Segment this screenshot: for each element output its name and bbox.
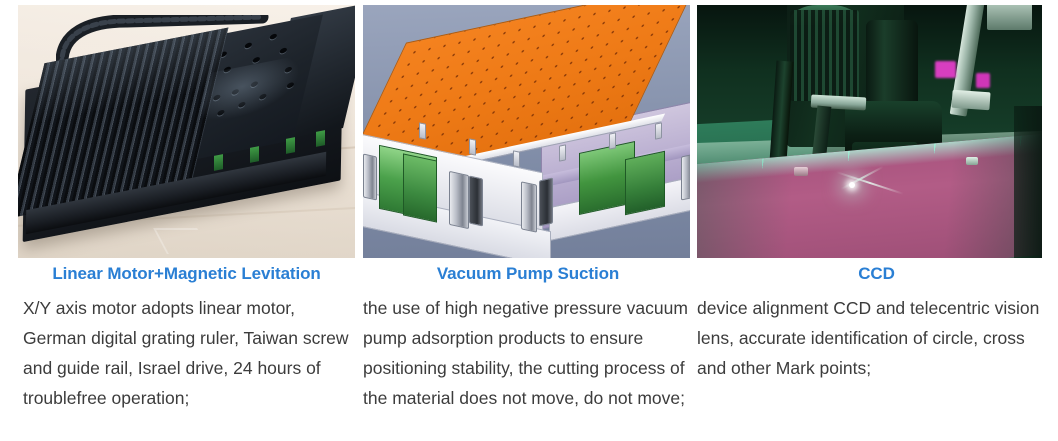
vacuum-table-cad-render bbox=[363, 5, 690, 258]
feature-title: Vacuum Pump Suction bbox=[355, 263, 695, 285]
pneumatic-cylinder bbox=[469, 176, 483, 227]
feature-card-vacuum-pump[interactable]: Vacuum Pump Suction the use of high nega… bbox=[355, 0, 695, 441]
pneumatic-cylinder bbox=[539, 178, 553, 227]
feature-title: Linear Motor+Magnetic Levitation bbox=[0, 263, 355, 285]
feature-title: CCD bbox=[695, 263, 1058, 285]
feature-body: the use of high negative pressure vacuum… bbox=[363, 293, 693, 413]
pneumatic-cylinder bbox=[363, 154, 377, 201]
pneumatic-cylinder bbox=[681, 154, 690, 201]
cutting-spark bbox=[849, 182, 855, 188]
linear-guide-block bbox=[625, 151, 665, 216]
linear-guide-block bbox=[403, 153, 437, 222]
feature-body: device alignment CCD and telecentric vis… bbox=[697, 293, 1047, 383]
linear-motor-stage-photo bbox=[18, 5, 355, 258]
feature-grid: Linear Motor+Magnetic Levitation X/Y axi… bbox=[0, 0, 1058, 441]
pneumatic-cylinder bbox=[449, 171, 469, 229]
feature-card-linear-motor[interactable]: Linear Motor+Magnetic Levitation X/Y axi… bbox=[0, 0, 355, 441]
pneumatic-cylinder bbox=[521, 181, 537, 232]
ccd-vision-head-photo bbox=[697, 5, 1042, 258]
feature-card-ccd[interactable]: CCD device alignment CCD and telecentric… bbox=[695, 0, 1058, 441]
feature-body: X/Y axis motor adopts linear motor, Germ… bbox=[23, 293, 355, 413]
